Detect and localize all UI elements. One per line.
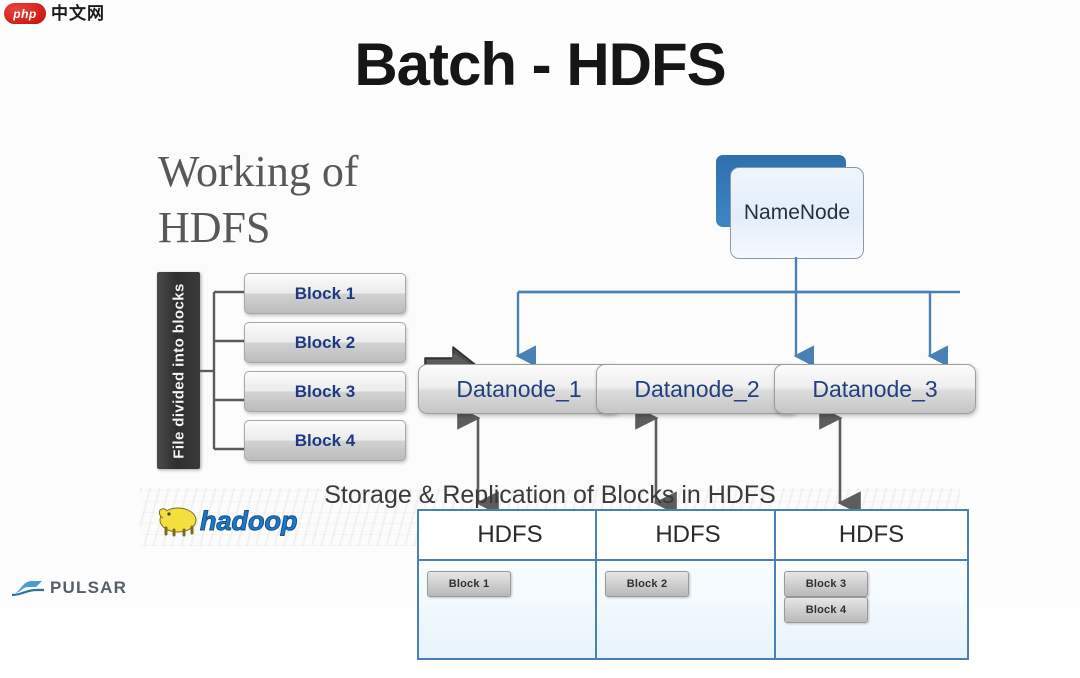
datanode-1-label: Datanode_1 [456,376,581,403]
hdfs-box-3-body: Block 3 Block 4 [776,561,967,678]
file-divided-bar: File divided into blocks [157,272,200,469]
datanode-1-box: Datanode_1 [418,364,620,414]
hadoop-logo-text: hadoop [200,506,297,536]
datanode-2-box: Datanode_2 [596,364,798,414]
hdfs-box-2-title: HDFS [597,511,779,561]
datanode-3-label: Datanode_3 [812,376,937,403]
hdfs-box-1-body: Block 1 [419,561,601,678]
hdfs-box-1: HDFS Block 1 [417,509,603,660]
hdfs-box-2: HDFS Block 2 [595,509,781,660]
source-block-1: Block 1 [244,273,406,314]
hdfs-diagram: Working of HDFS File divided into blocks… [140,126,960,546]
stored-block-chip: Block 4 [784,597,868,623]
hdfs-box-3: HDFS Block 3 Block 4 [774,509,969,660]
pulsar-logo: PULSAR [10,577,127,599]
datanode-2-label: Datanode_2 [634,376,759,403]
block-bracket-connector [200,272,246,469]
stored-block-chip: Block 2 [605,571,689,597]
stored-block-chip: Block 3 [784,571,868,597]
pulsar-logo-text: PULSAR [50,578,127,598]
php-logo-badge: php [4,3,46,24]
hadoop-logo-icon: hadoop [152,498,320,538]
php-watermark-label: 中文网 [51,5,105,22]
source-block-3: Block 3 [244,371,406,412]
file-divided-bar-label: File divided into blocks [170,283,187,458]
hadoop-elephant-mark [159,508,196,535]
diagram-headline: Working of HDFS [158,144,458,257]
php-watermark: php 中文网 [4,3,105,24]
stored-block-chip: Block 1 [427,571,511,597]
slide-canvas: php 中文网 Batch - HDFS Working of HDFS Fil… [0,0,1080,607]
source-block-4: Block 4 [244,420,406,461]
hdfs-box-2-body: Block 2 [597,561,779,678]
hdfs-box-3-title: HDFS [776,511,967,561]
namenode-label: NameNode [744,201,850,225]
pulsar-mark-icon [10,577,46,599]
diagram-headline-line1: Working of [158,144,458,200]
hdfs-box-1-title: HDFS [419,511,601,561]
namenode-box: NameNode [730,167,864,259]
source-block-2: Block 2 [244,322,406,363]
page-title: Batch - HDFS [0,30,1080,99]
datanode-3-box: Datanode_3 [774,364,976,414]
diagram-headline-line2: HDFS [158,200,458,256]
